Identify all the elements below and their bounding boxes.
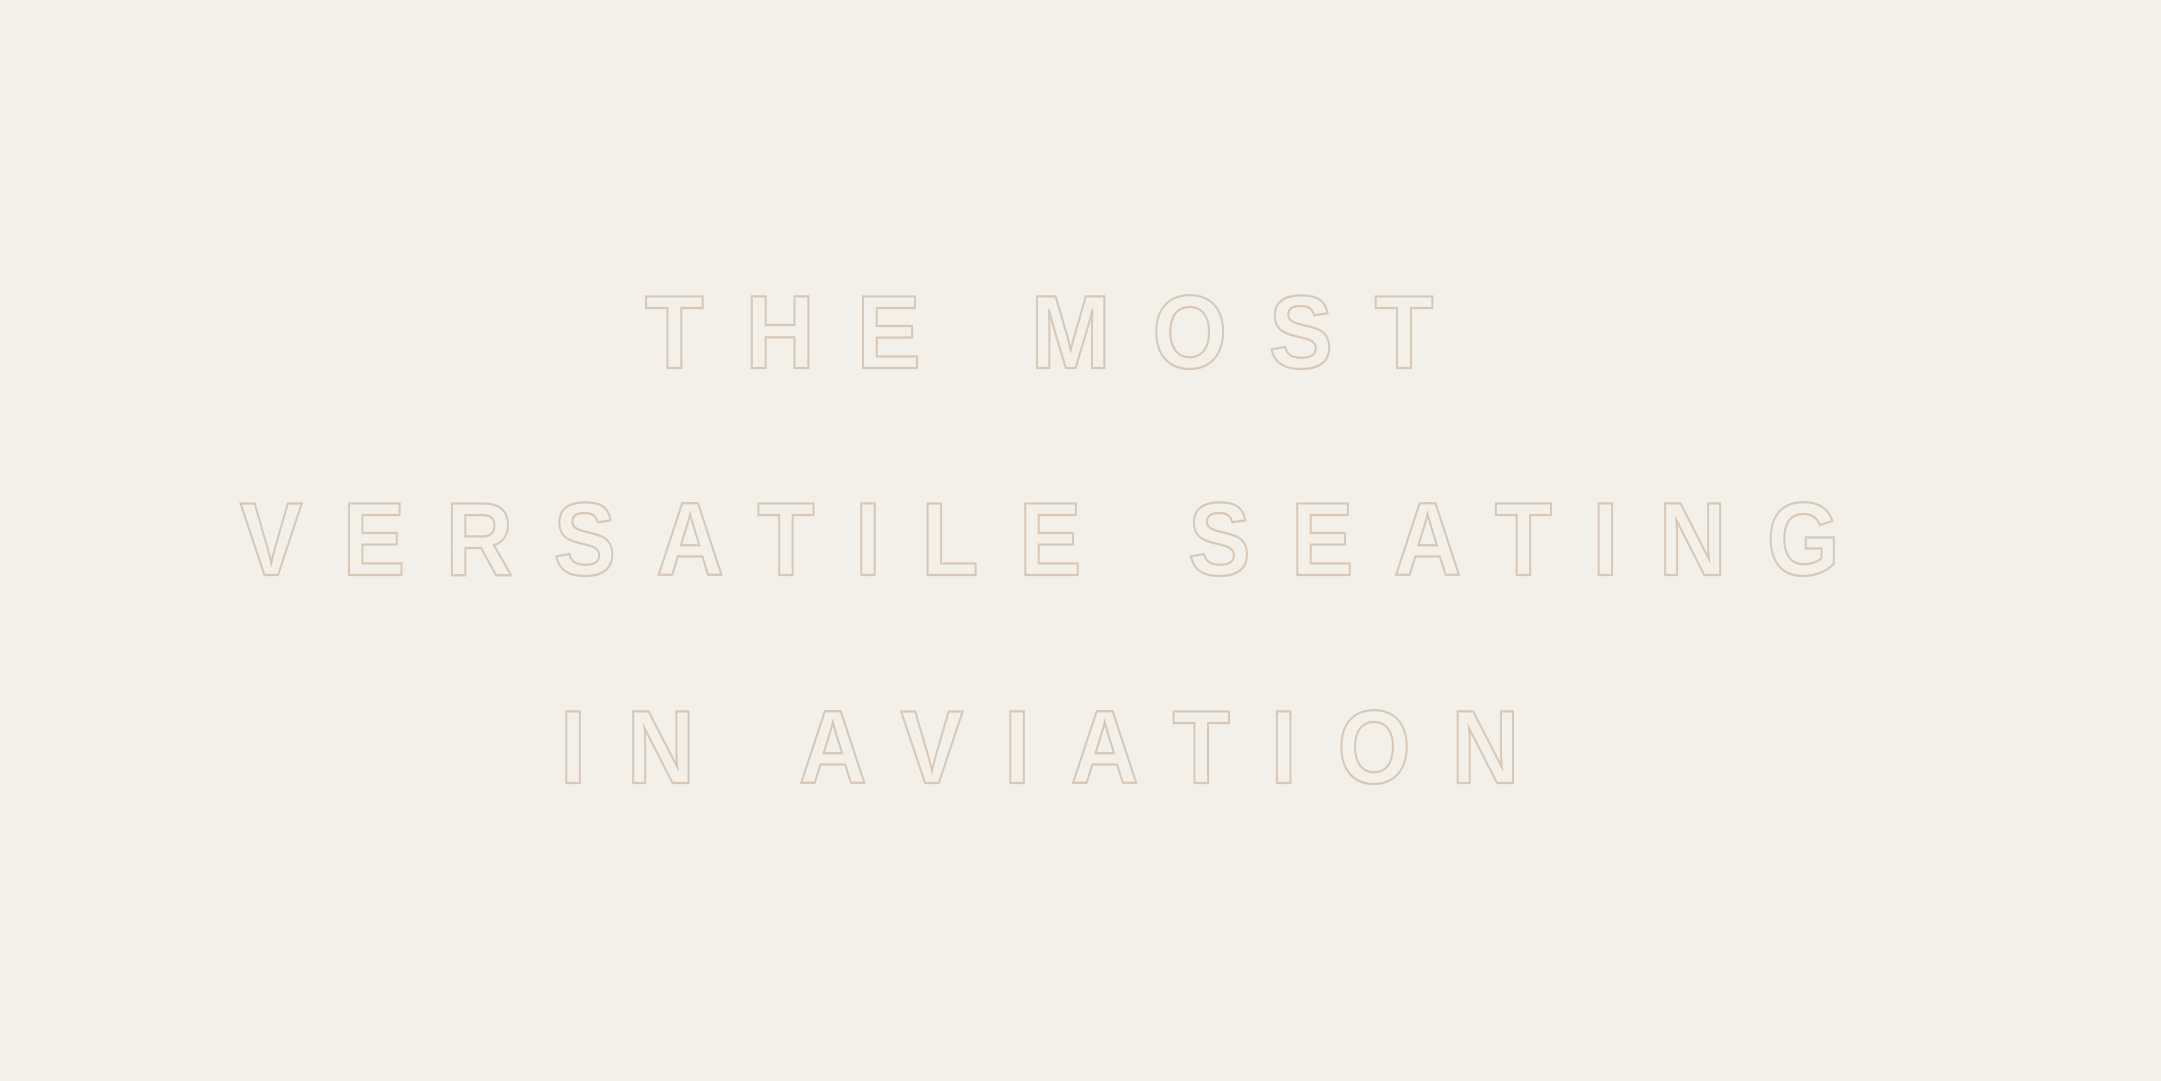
- headline-outline-svg: THE MOST VERSATILE SEATING IN AVIATION: [0, 0, 2161, 1081]
- headline-line-1: THE MOST: [645, 275, 1475, 391]
- headline-line-3: IN AVIATION: [560, 690, 1560, 806]
- hero-canvas: THE MOST VERSATILE SEATING IN AVIATION: [0, 0, 2161, 1081]
- headline-block: THE MOST VERSATILE SEATING IN AVIATION: [0, 0, 2161, 1081]
- headline-line-2: VERSATILE SEATING: [240, 482, 1880, 598]
